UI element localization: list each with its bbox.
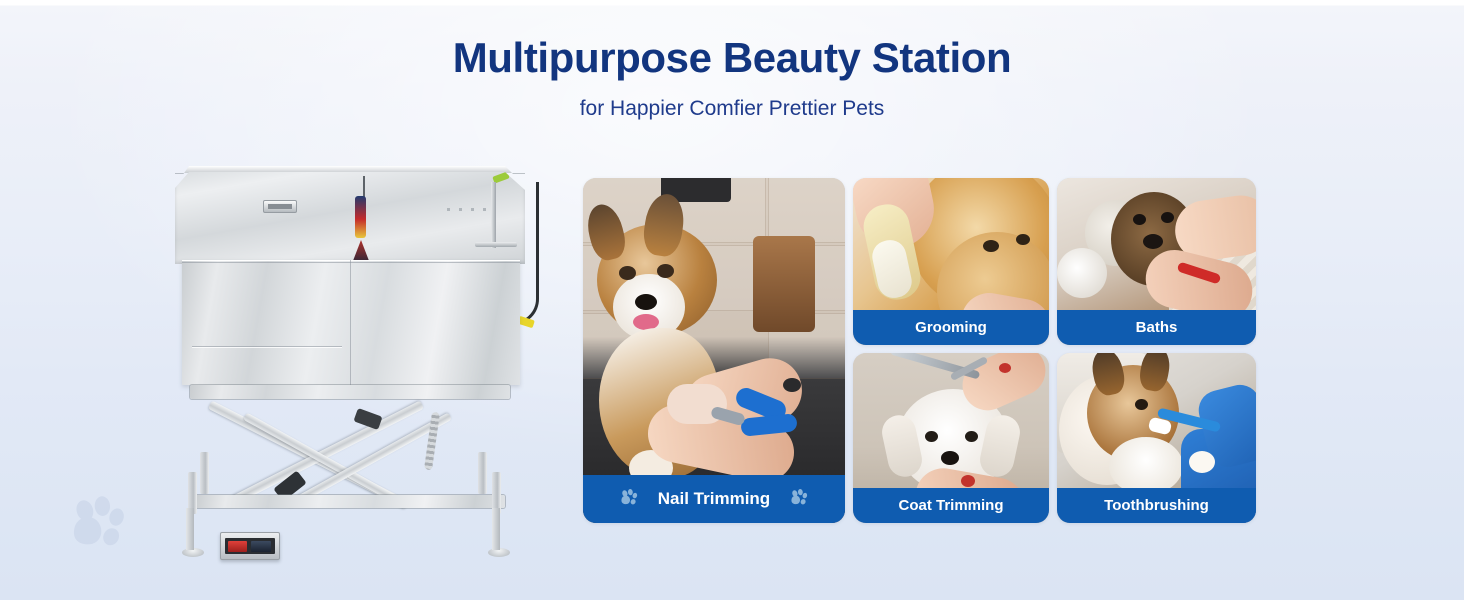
- card-label-grooming: Grooming: [915, 319, 987, 336]
- paw-print-watermark-icon: [63, 493, 133, 563]
- card-label-nail-trimming: Nail Trimming: [658, 489, 770, 509]
- card-banner-nail-trimming: Nail Trimming: [583, 475, 845, 523]
- card-banner-baths: Baths: [1057, 310, 1256, 345]
- pedal-up-button: [228, 541, 247, 552]
- foot-pedal-control: [220, 532, 280, 560]
- feature-card-grooming[interactable]: Grooming: [853, 178, 1049, 345]
- feature-card-coat-trimming[interactable]: Coat Trimming: [853, 353, 1049, 523]
- feature-card-nail-trimming[interactable]: Nail Trimming: [583, 178, 845, 523]
- photo-nail-trimming: [583, 178, 845, 523]
- card-banner-coat-trimming: Coat Trimming: [853, 488, 1049, 523]
- paw-icon-right: [788, 488, 810, 510]
- promo-banner: Multipurpose Beauty Station for Happier …: [0, 0, 1464, 600]
- card-label-baths: Baths: [1136, 319, 1178, 336]
- paw-icon-left: [618, 488, 640, 510]
- header: Multipurpose Beauty Station for Happier …: [0, 0, 1464, 122]
- feature-card-toothbrushing[interactable]: Toothbrushing: [1057, 353, 1256, 523]
- tub-vent-dots: [447, 208, 487, 211]
- tub-front-panel: [182, 260, 520, 385]
- tub-latch-icon: [263, 200, 297, 213]
- pedal-down-button: [251, 541, 271, 552]
- card-banner-toothbrushing: Toothbrushing: [1057, 488, 1256, 523]
- card-banner-grooming: Grooming: [853, 310, 1049, 345]
- page-title: Multipurpose Beauty Station: [0, 0, 1464, 83]
- product-image-dog-grooming-tub: [150, 160, 550, 580]
- page-subtitle: for Happier Comfier Prettier Pets: [0, 83, 1464, 122]
- card-label-coat-trimming: Coat Trimming: [898, 497, 1003, 514]
- feature-card-grid: Nail Trimming: [583, 178, 1256, 523]
- card-label-toothbrushing: Toothbrushing: [1104, 497, 1209, 514]
- feature-card-baths[interactable]: Baths: [1057, 178, 1256, 345]
